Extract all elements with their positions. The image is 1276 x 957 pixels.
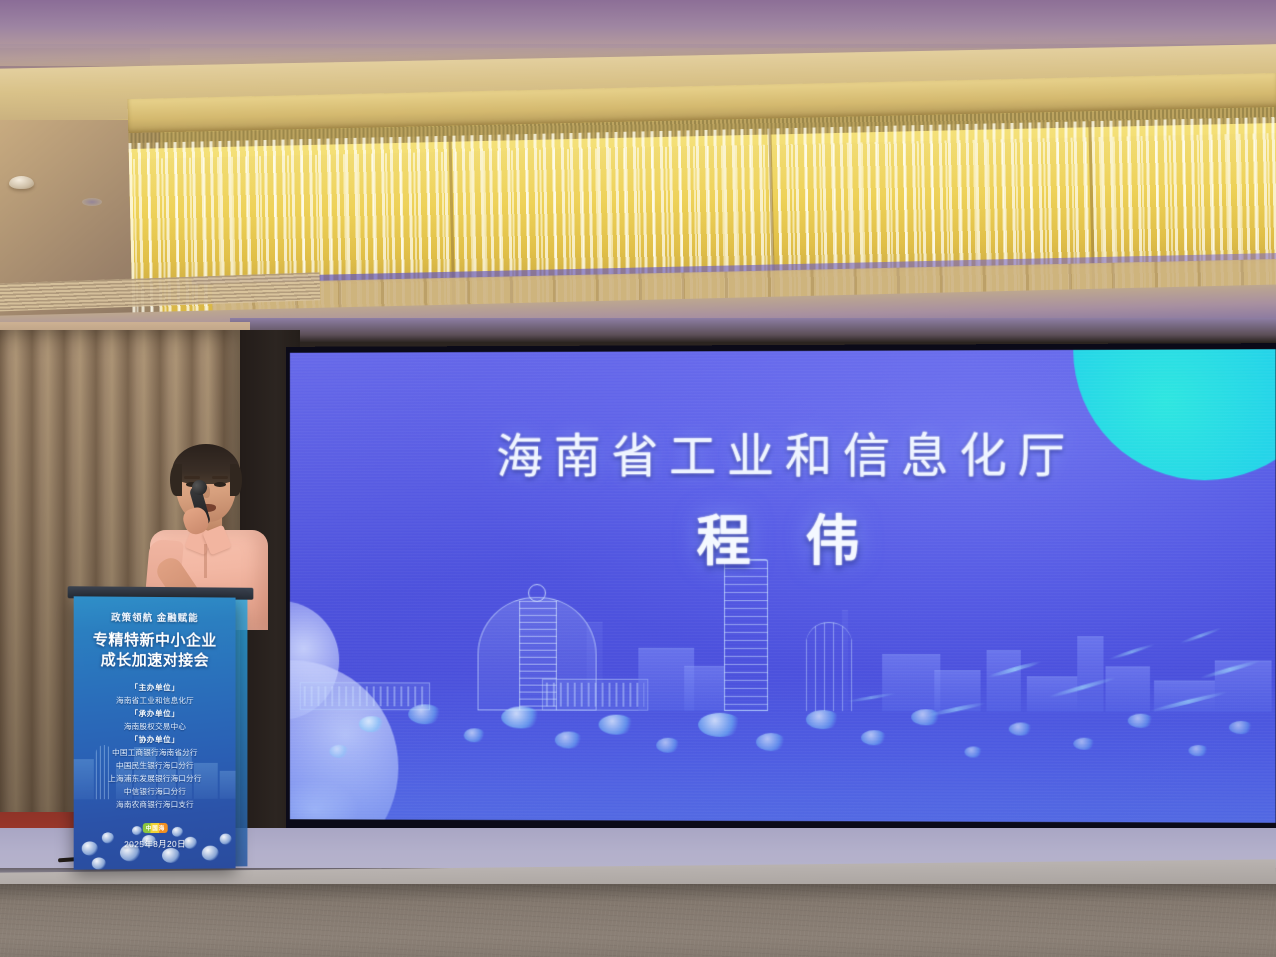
list-item: 海南股权交易中心 [74, 720, 236, 733]
floor-shadow [0, 884, 1276, 902]
podium-bubble [162, 848, 180, 863]
list-item: 上海浦东发展银行海口分行 [74, 772, 236, 785]
wall-top-strip [230, 318, 1276, 342]
podium-lectern: 政策领航 金融赋能 专精特新中小企业 成长加速对接会 「主办单位」 海南省工业和… [74, 594, 246, 870]
podium-logo-badge: 中 国 海 [143, 823, 168, 833]
list-item: 中国工商银行海南省分行 [74, 746, 236, 759]
podium-bubble [92, 857, 106, 869]
speaker-hair-side-left [170, 464, 182, 496]
badge-segment-2: 国 [152, 824, 158, 832]
podium-bubble [132, 826, 142, 835]
podium-side-edge [234, 600, 248, 867]
list-item: 「承办单位」 [74, 706, 236, 719]
podium-text-block: 政策领航 金融赋能 专精特新中小企业 成长加速对接会 「主办单位」 海南省工业和… [74, 596, 236, 811]
ceiling [0, 0, 1276, 330]
speaker-placket [204, 544, 207, 578]
speaker-eye-right [214, 482, 226, 487]
podium-date: 2025年8月20日 [74, 838, 236, 851]
badge-segment-1: 中 [146, 824, 152, 832]
podium-organizer-list: 「主办单位」 海南省工业和信息化厅 「承办单位」 海南股权交易中心 「协办单位」… [74, 680, 236, 811]
conference-photo-scene: 海南省工业和信息化厅 程 伟 [0, 0, 1276, 957]
podium-heading-line1: 专精特新中小企业 [74, 630, 236, 651]
screen-speaker-name: 程 伟 [290, 496, 1276, 576]
list-item: 「主办单位」 [74, 680, 236, 693]
list-item: 「协办单位」 [74, 733, 236, 746]
screen-title: 海南省工业和信息化厅 [290, 428, 1276, 484]
screen-text-block: 海南省工业和信息化厅 程 伟 [290, 428, 1276, 576]
ceiling-downlight [82, 198, 102, 206]
ceiling-upper-band [0, 0, 1276, 48]
podium-heading-line2: 成长加速对接会 [74, 651, 236, 672]
badge-segment-3: 海 [159, 824, 165, 832]
list-item: 海南省工业和信息化厅 [74, 693, 236, 706]
podium-bubble [172, 827, 183, 837]
speaker-hair-side-right [230, 464, 242, 496]
speaker-eyebrow-right [212, 476, 228, 479]
speaker-eyebrow-left [184, 476, 200, 479]
smoke-detector-icon [9, 176, 34, 189]
screen-pixel-scanlines [290, 349, 1276, 823]
podium-front-panel: 政策领航 金融赋能 专精特新中小企业 成长加速对接会 「主办单位」 海南省工业和… [74, 596, 236, 869]
podium-tagline: 政策领航 金融赋能 [74, 609, 236, 624]
led-screen-frame: 海南省工业和信息化厅 程 伟 [286, 343, 1276, 834]
list-item: 中信银行海口分行 [74, 785, 236, 799]
led-screen: 海南省工业和信息化厅 程 伟 [290, 349, 1276, 823]
list-item: 中国民生银行海口分行 [74, 759, 236, 772]
list-item: 海南农商银行海口支行 [74, 798, 236, 812]
